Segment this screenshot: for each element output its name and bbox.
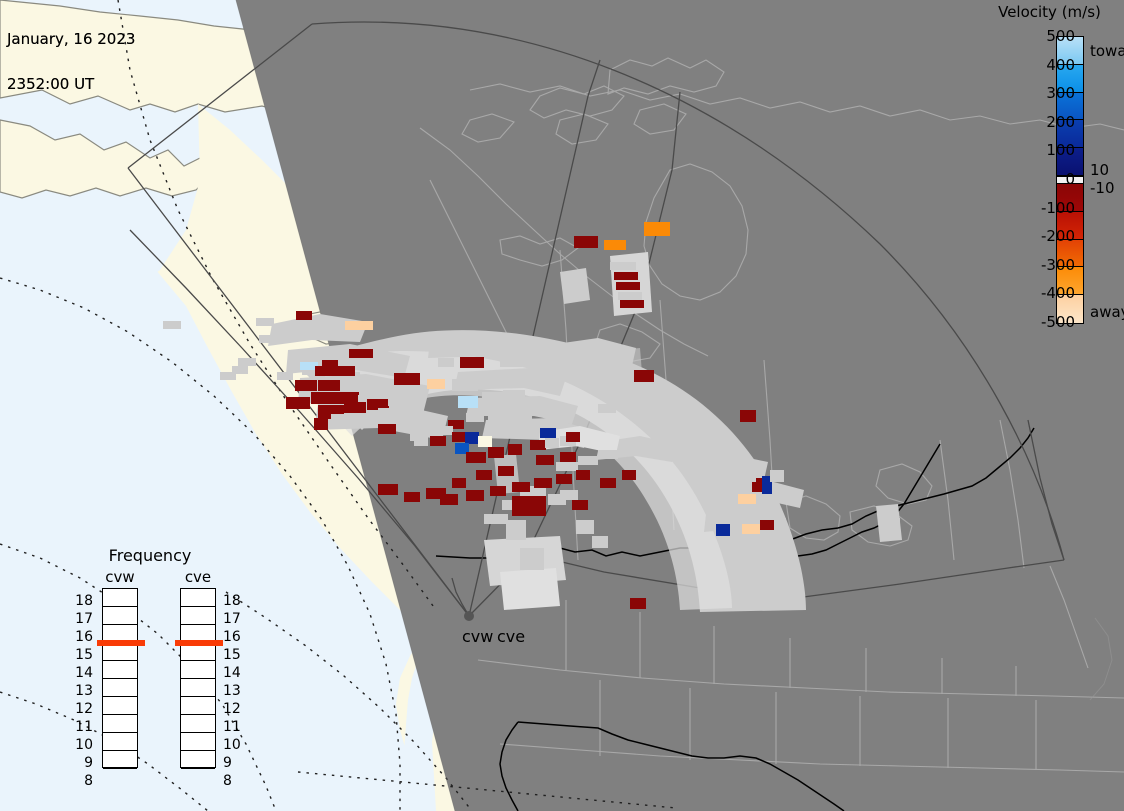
velocity-cell — [545, 438, 559, 448]
velocity-cell — [498, 466, 514, 476]
colorbar-tick--400: -400 — [1015, 284, 1075, 302]
velocity-colorbar-panel: Velocity (m/s) 5004003002001000-100-200-… — [975, 0, 1124, 340]
velocity-cell — [466, 490, 484, 501]
frequency-segment — [181, 589, 215, 607]
velocity-cell — [664, 418, 684, 427]
velocity-cell — [427, 379, 445, 389]
velocity-cell — [430, 345, 448, 355]
colorbar-neg-threshold-label: -10 — [1090, 179, 1115, 197]
colorbar-tick--200: -200 — [1015, 227, 1075, 245]
frequency-tick-16: 16 — [71, 628, 93, 646]
velocity-cell — [404, 492, 420, 502]
scatter-grey-cell — [578, 456, 598, 465]
colorbar-tick--100: -100 — [1015, 199, 1075, 217]
scatter-grey-cell — [484, 514, 508, 524]
velocity-cell — [476, 470, 492, 480]
velocity-cell — [465, 432, 479, 444]
frequency-tick-9: 9 — [71, 754, 93, 772]
colorbar-tick-200: 200 — [1015, 113, 1075, 131]
velocity-cell — [277, 372, 293, 380]
scatter-grey-cell — [438, 358, 454, 367]
scatter-grey-cell — [424, 416, 442, 425]
frequency-channel-cvw[interactable]: cvw 18171615141312111098 — [97, 568, 143, 768]
velocity-cell — [510, 411, 532, 420]
velocity-cell — [536, 455, 554, 465]
velocity-cell — [414, 437, 428, 446]
frequency-segment — [103, 733, 137, 751]
frequency-tick-13: 13 — [71, 682, 93, 700]
colorbar-away-label: away — [1090, 303, 1124, 321]
velocity-cell — [630, 598, 646, 609]
frequency-tick-15: 15 — [223, 646, 245, 664]
frequency-tick-17: 17 — [71, 610, 93, 628]
velocity-cell — [349, 349, 373, 358]
velocity-cell — [618, 292, 642, 300]
frequency-channel-cvw-label: cvw — [97, 568, 143, 586]
frequency-tick-8: 8 — [71, 772, 93, 790]
frequency-tick-8: 8 — [223, 772, 245, 790]
velocity-cell — [458, 396, 478, 408]
frequency-tick-10: 10 — [71, 736, 93, 754]
velocity-cell — [344, 402, 366, 413]
scatter-grey-cell — [576, 520, 594, 534]
frequency-channel-cve[interactable]: cve 18171615141312111098 — [175, 568, 221, 768]
velocity-cell — [315, 366, 337, 376]
velocity-cell — [508, 444, 522, 455]
velocity-cell — [770, 470, 784, 482]
scatter-grey-cell — [238, 358, 256, 366]
frequency-tick-10: 10 — [223, 736, 245, 754]
frequency-segment — [103, 751, 137, 769]
frequency-bar-cve[interactable] — [180, 588, 216, 768]
velocity-cell — [572, 500, 588, 510]
velocity-cell — [760, 520, 774, 530]
site-label-cvw: cvw — [462, 627, 493, 646]
velocity-cell — [530, 440, 546, 450]
velocity-cell — [534, 478, 552, 488]
frequency-segment — [181, 715, 215, 733]
velocity-cell — [342, 381, 360, 391]
velocity-cell — [440, 494, 458, 505]
velocity-cell — [331, 414, 347, 425]
velocity-cell — [482, 392, 506, 402]
velocity-cell — [378, 424, 396, 434]
velocity-cell — [359, 378, 381, 388]
velocity-cell — [404, 388, 426, 398]
frequency-segment — [103, 607, 137, 625]
velocity-cell — [295, 380, 317, 391]
velocity-cell — [634, 370, 654, 382]
velocity-cell — [512, 496, 546, 516]
frequency-segment — [103, 589, 137, 607]
frequency-title: Frequency — [85, 546, 215, 565]
velocity-cell — [574, 236, 598, 248]
velocity-cell — [488, 413, 510, 422]
velocity-cell — [742, 524, 760, 534]
velocity-cell — [560, 452, 576, 462]
scatter-grey-cell — [710, 440, 728, 449]
velocity-cell — [556, 474, 572, 484]
colorbar-tick-300: 300 — [1015, 84, 1075, 102]
velocity-cell — [460, 357, 484, 368]
frequency-ticks-cvw: 18171615141312111098 — [71, 592, 93, 790]
velocity-cell — [610, 262, 636, 270]
frequency-marker-cvw — [97, 640, 145, 646]
velocity-cell — [576, 470, 590, 480]
scatter-grey-cell — [598, 450, 618, 459]
frequency-segment — [103, 661, 137, 679]
velocity-cell — [550, 358, 572, 366]
frequency-tick-17: 17 — [223, 610, 245, 628]
velocity-cell — [566, 432, 580, 442]
frequency-marker-cve — [175, 640, 223, 646]
colorbar-tick-0: 0 — [1015, 170, 1075, 188]
frequency-tick-14: 14 — [71, 664, 93, 682]
velocity-cell — [556, 370, 578, 378]
frequency-tick-11: 11 — [71, 718, 93, 736]
velocity-cell — [700, 424, 722, 433]
velocity-cell — [620, 386, 636, 396]
velocity-cell — [622, 470, 636, 480]
velocity-cell — [232, 366, 248, 374]
frequency-tick-18: 18 — [71, 592, 93, 610]
velocity-cell — [480, 338, 502, 348]
velocity-cell — [604, 240, 626, 250]
frequency-panel: Frequency cvw 18171615141312111098 cve 1… — [85, 546, 245, 796]
velocity-cell — [163, 321, 181, 329]
scatter-grey-cell — [530, 368, 550, 377]
velocity-cell — [740, 410, 756, 422]
velocity-cell — [378, 408, 398, 418]
velocity-cell — [378, 484, 398, 495]
frequency-tick-14: 14 — [223, 664, 245, 682]
frequency-bar-cvw[interactable] — [102, 588, 138, 768]
colorbar-tick--300: -300 — [1015, 256, 1075, 274]
colorbar-tick-500: 500 — [1015, 27, 1075, 45]
frequency-tick-12: 12 — [223, 700, 245, 718]
colorbar-pos-threshold-label: 10 — [1090, 161, 1109, 179]
frequency-segment — [103, 715, 137, 733]
velocity-cell — [503, 390, 525, 400]
velocity-cell — [512, 482, 530, 492]
frequency-segment — [103, 697, 137, 715]
scatter-grey-cell — [386, 360, 402, 369]
frequency-segment — [103, 679, 137, 697]
colorbar-tick-400: 400 — [1015, 56, 1075, 74]
frequency-segment — [181, 679, 215, 697]
velocity-cell — [430, 436, 446, 446]
velocity-cell — [466, 452, 486, 463]
scatter-grey-cell — [592, 536, 608, 548]
velocity-cell — [452, 478, 466, 488]
frequency-tick-9: 9 — [223, 754, 245, 772]
velocity-cell — [478, 436, 492, 447]
scatter-grey-cell — [598, 404, 616, 413]
frequency-segment — [181, 607, 215, 625]
radar-site-marker — [464, 611, 474, 621]
frequency-segment — [181, 661, 215, 679]
velocity-cell — [540, 428, 556, 438]
velocity-cell — [740, 470, 756, 482]
colorbar-toward-label: toward — [1090, 42, 1124, 60]
velocity-cell — [488, 447, 504, 458]
velocity-cell — [738, 494, 756, 504]
velocity-cell — [466, 413, 484, 422]
velocity-cell — [281, 323, 297, 331]
velocity-cell — [259, 335, 281, 343]
velocity-cell — [452, 379, 478, 391]
velocity-cell — [296, 311, 312, 320]
velocity-cell — [335, 366, 355, 376]
velocity-cell — [548, 494, 566, 505]
frequency-segment — [181, 733, 215, 751]
velocity-cell — [455, 340, 479, 351]
scatter-grey-cell — [506, 520, 526, 540]
colorbar-tick--500: -500 — [1015, 313, 1075, 331]
frequency-ticks-cve: 18171615141312111098 — [223, 592, 245, 790]
timestamp-block: January, 16 2023 2352:00 UT — [7, 2, 135, 122]
frequency-tick-15: 15 — [71, 646, 93, 664]
frequency-channel-cve-label: cve — [175, 568, 221, 586]
frequency-tick-11: 11 — [223, 718, 245, 736]
velocity-cell — [888, 518, 900, 536]
frequency-tick-13: 13 — [223, 682, 245, 700]
date-label: January, 16 2023 — [7, 32, 135, 47]
velocity-cell — [305, 328, 319, 336]
velocity-cell — [437, 426, 453, 435]
velocity-cell — [600, 478, 616, 488]
scatter-grey-cell — [500, 358, 522, 367]
time-label: 2352:00 UT — [7, 77, 135, 92]
velocity-cell — [490, 486, 506, 496]
velocity-cell — [568, 344, 590, 352]
velocity-cell — [286, 397, 310, 409]
scatter-grey-cell — [520, 548, 544, 570]
site-label-cve: cve — [497, 627, 525, 646]
frequency-tick-12: 12 — [71, 700, 93, 718]
velocity-cell — [394, 373, 420, 385]
frequency-tick-18: 18 — [223, 592, 245, 610]
scatter-grey-cell — [556, 462, 578, 471]
velocity-cell — [716, 524, 730, 536]
velocity-cell — [311, 392, 337, 404]
scatter-grey-cell — [256, 318, 274, 326]
frequency-tick-16: 16 — [223, 628, 245, 646]
velocity-cell — [644, 222, 670, 236]
velocity-cell — [616, 282, 640, 290]
frequency-segment — [181, 697, 215, 715]
velocity-cell — [314, 418, 328, 430]
velocity-cell — [614, 272, 638, 280]
frequency-segment — [181, 751, 215, 769]
fan-plot-canvas: January, 16 2023 2352:00 UT Velocity (m/… — [0, 0, 1124, 811]
velocity-cell — [400, 408, 424, 418]
velocity-cell — [345, 321, 373, 330]
velocity-cell — [318, 380, 340, 391]
velocity-cell — [620, 300, 644, 308]
colorbar-title: Velocity (m/s) — [977, 3, 1122, 21]
colorbar-tick-100: 100 — [1015, 141, 1075, 159]
